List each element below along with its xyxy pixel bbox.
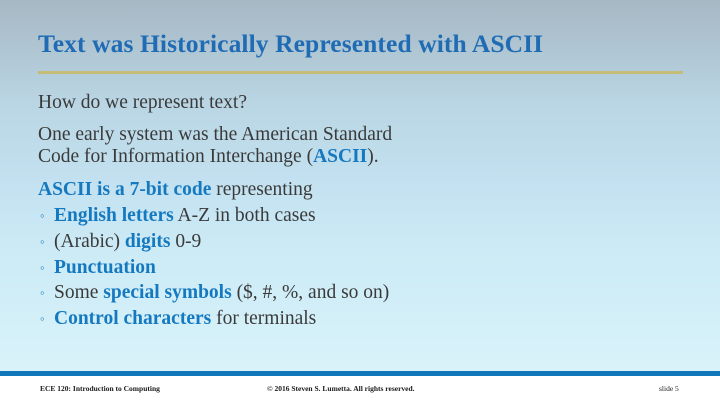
question-text: How do we represent text?: [38, 92, 247, 113]
list-item-highlight: special symbols: [103, 282, 231, 303]
list-item-pre: (Arabic): [54, 231, 125, 252]
hollow-circle-bullet-icon: ◦: [40, 255, 45, 280]
list-item: ◦Some special symbols ($, #, %, and so o…: [38, 280, 688, 306]
definition-line-1: One early system was the American Standa…: [38, 124, 688, 146]
definition-line-2-post: ).: [367, 146, 378, 167]
page-title: Text was Historically Represented with A…: [38, 30, 684, 58]
definition-paragraph: One early system was the American Standa…: [38, 124, 688, 168]
bullet-list: ◦English letters A-Z in both cases ◦(Ara…: [38, 203, 688, 333]
lead-rest: representing: [211, 179, 312, 200]
definition-line-2-pre: Code for Information Interchange (: [38, 146, 313, 167]
list-item: ◦(Arabic) digits 0-9: [38, 229, 688, 255]
title-underline-rule: [38, 71, 683, 74]
footer-slide-number: slide 5: [659, 384, 679, 393]
hollow-circle-bullet-icon: ◦: [40, 203, 45, 228]
list-item-highlight: Control characters: [54, 308, 211, 329]
list-item-post: 0-9: [170, 231, 201, 252]
slide-body: How do we represent text? One early syst…: [38, 92, 688, 332]
list-item-pre: Some: [54, 282, 103, 303]
list-item-highlight: English letters: [54, 205, 174, 226]
hollow-circle-bullet-icon: ◦: [40, 229, 45, 254]
hollow-circle-bullet-icon: ◦: [40, 306, 45, 331]
list-item-highlight: digits: [125, 231, 171, 252]
lead-paragraph: ASCII is a 7-bit code representing: [38, 179, 688, 201]
list-item: ◦Control characters for terminals: [38, 306, 688, 332]
list-item: ◦Punctuation: [38, 255, 688, 281]
title-block: Text was Historically Represented with A…: [38, 30, 684, 58]
presentation-slide: Text was Historically Represented with A…: [0, 0, 720, 405]
list-item-post: for terminals: [211, 308, 316, 329]
footer-course-label: ECE 120: Introduction to Computing: [40, 384, 160, 393]
list-item-post: ($, #, %, and so on): [232, 282, 390, 303]
footer-copyright-label: © 2016 Steven S. Lumetta. All rights res…: [267, 384, 415, 393]
lead-highlight: ASCII is a 7-bit code: [38, 179, 211, 200]
hollow-circle-bullet-icon: ◦: [40, 280, 45, 305]
list-item: ◦English letters A-Z in both cases: [38, 203, 688, 229]
definition-line-2: Code for Information Interchange (ASCII)…: [38, 146, 688, 168]
list-item-highlight: Punctuation: [54, 257, 156, 278]
ascii-highlight: ASCII: [313, 146, 367, 167]
question-paragraph: How do we represent text?: [38, 92, 688, 114]
list-item-post: A-Z in both cases: [174, 205, 316, 226]
